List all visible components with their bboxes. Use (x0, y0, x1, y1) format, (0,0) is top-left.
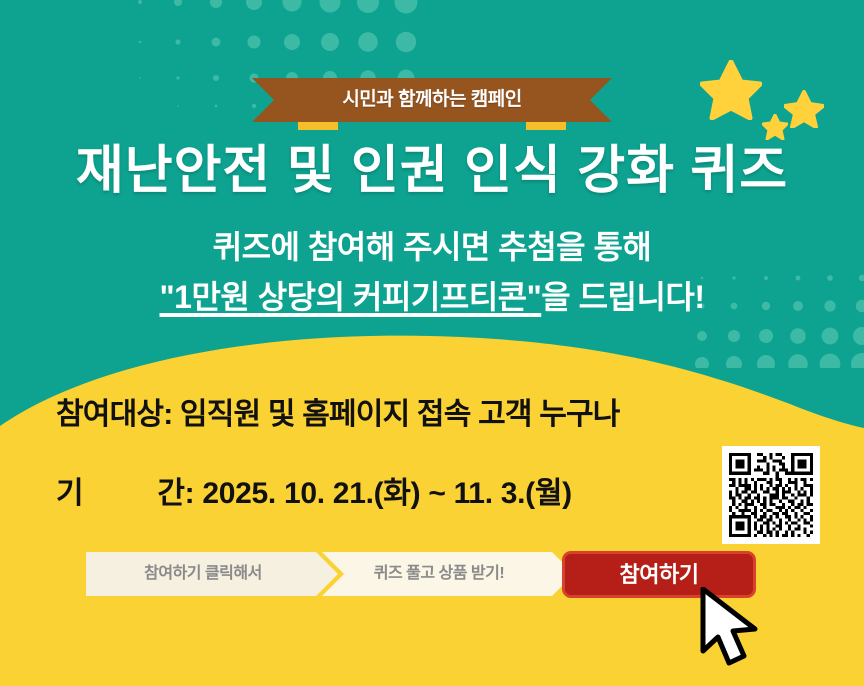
prize-highlight: "1만원 상당의 커피기프티콘" (159, 279, 541, 315)
step-1-label: 참여하기 클릭해서 (86, 552, 338, 596)
promo-poster: 시민과 함께하는 캠페인 재난안전 및 인권 인식 강화 퀴즈 퀴즈에 참여해 … (0, 0, 864, 686)
period-label-a: 기 (56, 477, 83, 510)
audience-line: 참여대상: 임직원 및 홈페이지 접속 고객 누구나 (56, 389, 620, 433)
campaign-ribbon: 시민과 함께하는 캠페인 (252, 78, 612, 130)
star-icon-medium (784, 90, 824, 128)
subtitle-line-1: 퀴즈에 참여해 주시면 추첨을 통해 (0, 222, 864, 268)
period-label-b: 간: (157, 477, 194, 510)
subtitle-line-2: "1만원 상당의 커피기프티콘"을 드립니다! (0, 272, 864, 318)
participate-button[interactable]: 참여하기 (562, 551, 756, 598)
participate-button-label: 참여하기 (565, 554, 753, 595)
ribbon-label: 시민과 함께하는 캠페인 (252, 78, 612, 122)
step-chevron-1: 참여하기 클릭해서 (86, 552, 338, 596)
period-line: 기간: 2025. 10. 21.(화) ~ 11. 3.(월) (56, 468, 572, 512)
star-icon-large (700, 60, 762, 120)
period-value: 2025. 10. 21.(화) ~ 11. 3.(월) (202, 477, 572, 510)
step-chevron-2: 퀴즈 풀고 상품 받기! (322, 552, 574, 596)
qr-code[interactable] (722, 446, 820, 544)
prize-tail: 을 드립니다! (541, 279, 704, 315)
step-2-label: 퀴즈 풀고 상품 받기! (322, 552, 574, 596)
page-title: 재난안전 및 인권 인식 강화 퀴즈 (0, 128, 864, 203)
